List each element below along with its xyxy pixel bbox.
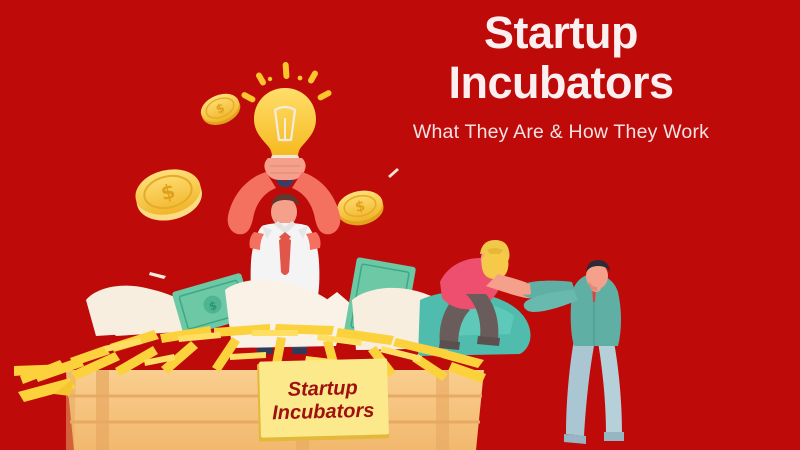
sign-label-line1: Startup [287,377,358,402]
sign-label-line2: Incubators [272,400,375,426]
sign-label: Startup Incubators [261,363,385,438]
poster-canvas: $ $ $ [0,0,800,450]
page-title-line2: Incubators [346,58,776,108]
page-subtitle: What They Are & How They Work [346,120,776,144]
page-title: Startup Incubators [346,8,776,108]
headline-block: Startup Incubators What They Are & How T… [346,8,776,144]
page-title-line1: Startup [346,8,776,58]
